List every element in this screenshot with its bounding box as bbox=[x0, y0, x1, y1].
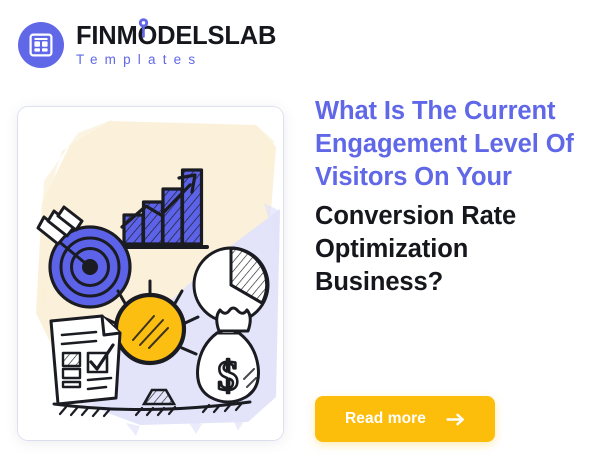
brand-name: FINMODELSLAB bbox=[76, 24, 276, 50]
svg-text:$: $ bbox=[218, 354, 239, 400]
read-more-button[interactable]: Read more bbox=[315, 396, 495, 442]
headline-secondary: Conversion Rate Optimization Business? bbox=[315, 200, 591, 299]
headline-block: What Is The Current Engagement Level Of … bbox=[315, 95, 591, 299]
arrow-right-icon bbox=[446, 413, 465, 426]
checklist-document bbox=[51, 316, 120, 404]
brand-subtitle: Templates bbox=[76, 53, 276, 67]
headline-primary: What Is The Current Engagement Level Of … bbox=[315, 95, 591, 194]
promo-banner: FINMODELSLAB Templates bbox=[0, 0, 600, 464]
business-analytics-illustration: $ bbox=[18, 107, 283, 440]
illustration-card: $ bbox=[18, 107, 283, 440]
read-more-label: Read more bbox=[345, 410, 426, 428]
brand-wordmark: FINMODELSLAB Templates bbox=[76, 24, 276, 67]
brand-logo[interactable]: FINMODELSLAB Templates bbox=[18, 22, 276, 68]
brand-mark-circle bbox=[18, 22, 64, 68]
grid-squares-icon bbox=[29, 33, 53, 57]
brand-name-row: FINMODELSLAB bbox=[76, 24, 276, 50]
